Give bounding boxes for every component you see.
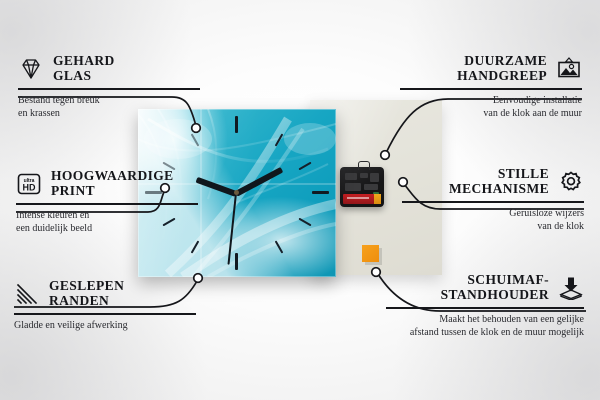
picture-frame-icon [556,57,582,81]
callout-gehard-glas: GEHARD GLAS Bestand tegen breuk en krass… [18,54,200,120]
infographic-canvas: GEHARD GLAS Bestand tegen breuk en krass… [0,0,600,400]
callout-subtitle: Eenvoudige installatie van de klok aan d… [400,95,582,120]
spacer-press-icon [558,276,584,300]
callout-title: STILLE MECHANISME [449,167,549,196]
callout-subtitle: Gladde en veilige afwerking [14,320,196,333]
movement-detail [364,184,378,190]
callout-title: DUURZAME HANDGREEP [457,54,547,83]
callout-header: GESLEPEN RANDEN [14,279,196,308]
callout-rule [18,88,200,90]
callout-rule [402,201,584,203]
battery-label [347,197,369,199]
tick-3 [312,191,329,194]
callout-rule [400,88,582,90]
gear-icon [558,170,584,194]
hand-hub [234,190,239,195]
callout-hoogwaardige-print: ultra HD HOOGWAARDIGE PRINT Intense kleu… [16,169,198,235]
callout-title: GESLEPEN RANDEN [49,279,124,308]
tick-12 [235,116,238,133]
bevelled-edges-icon [14,282,40,306]
foam-standoff-pad [362,245,379,262]
callout-rule [386,307,584,309]
svg-text:HD: HD [23,182,36,192]
callout-header: STILLE MECHANISME [402,167,584,196]
tick-6 [235,253,238,270]
callout-schuimafstandhouder: SCHUIMAF- STANDHOUDER Maakt het behouden… [386,273,584,339]
callout-title: SCHUIMAF- STANDHOUDER [441,273,549,302]
callout-rule [14,313,196,315]
battery [343,194,381,204]
callout-title: HOOGWAARDIGE PRINT [51,169,174,198]
ultra-hd-icon: ultra HD [16,172,42,196]
callout-subtitle: Bestand tegen breuk en krassen [18,95,200,120]
clock-movement [340,167,384,207]
callout-header: GEHARD GLAS [18,54,200,83]
callout-duurzame-handgreep: DUURZAME HANDGREEP Eenvoudige installati… [400,54,582,120]
callout-title: GEHARD GLAS [53,54,115,83]
movement-detail [370,173,379,182]
movement-detail [345,173,357,180]
movement-detail [345,183,361,191]
callout-geslepen-randen: GESLEPEN RANDEN Gladde en veilige afwerk… [14,279,196,333]
callout-rule [16,203,198,205]
callout-header: SCHUIMAF- STANDHOUDER [386,273,584,302]
callout-header: DUURZAME HANDGREEP [400,54,582,83]
diamond-icon [18,57,44,81]
hanger-icon [358,161,370,170]
callout-subtitle: Maakt het behouden van een gelijke afsta… [386,314,584,339]
callout-subtitle: Geruisloze wijzers van de klok [402,208,584,233]
callout-stille-mechanisme: STILLE MECHANISME Geruisloze wijzers van… [402,167,584,233]
callout-subtitle: Intense kleuren en een duidelijk beeld [16,210,198,235]
movement-detail [360,173,368,178]
callout-header: ultra HD HOOGWAARDIGE PRINT [16,169,198,198]
